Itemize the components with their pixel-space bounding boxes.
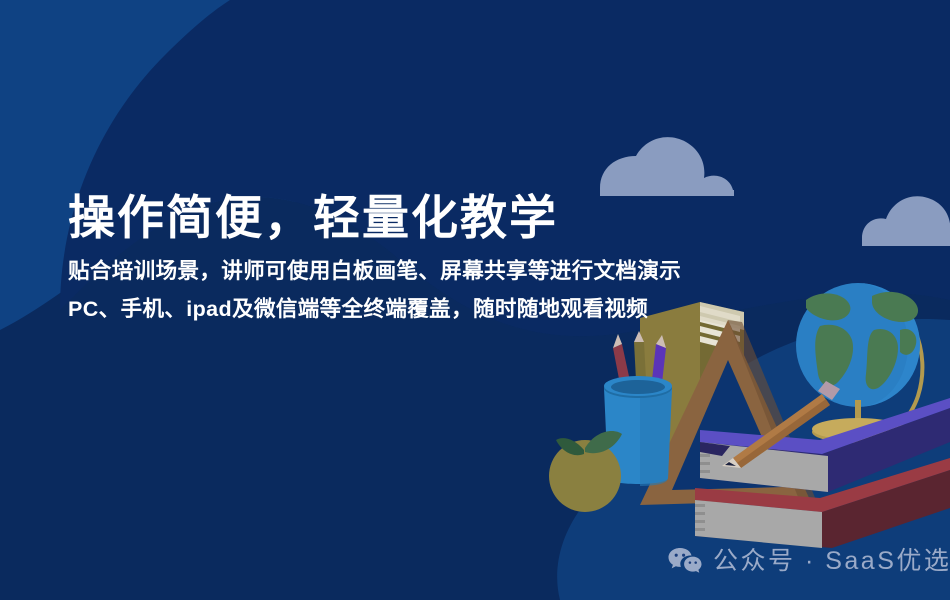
- watermark-text: 公众号 · SaaS优选: [713, 549, 950, 574]
- wechat-icon: [668, 546, 702, 576]
- page-title: 操作简便，轻量化教学: [68, 192, 788, 245]
- fruit-icon: [549, 431, 622, 512]
- subtitle-line-1: 贴合培训场景，讲师可使用白板画笔、屏幕共享等进行文档演示: [68, 261, 788, 283]
- watermark: 公众号 · SaaS优选: [668, 546, 950, 576]
- text-block: 操作简便，轻量化教学 贴合培训场景，讲师可使用白板画笔、屏幕共享等进行文档演示 …: [68, 192, 788, 338]
- subtitle-line-2: PC、手机、ipad及微信端等全终端覆盖，随时随地观看视频: [68, 299, 788, 321]
- slide-canvas: 操作简便，轻量化教学 贴合培训场景，讲师可使用白板画笔、屏幕共享等进行文档演示 …: [0, 0, 950, 600]
